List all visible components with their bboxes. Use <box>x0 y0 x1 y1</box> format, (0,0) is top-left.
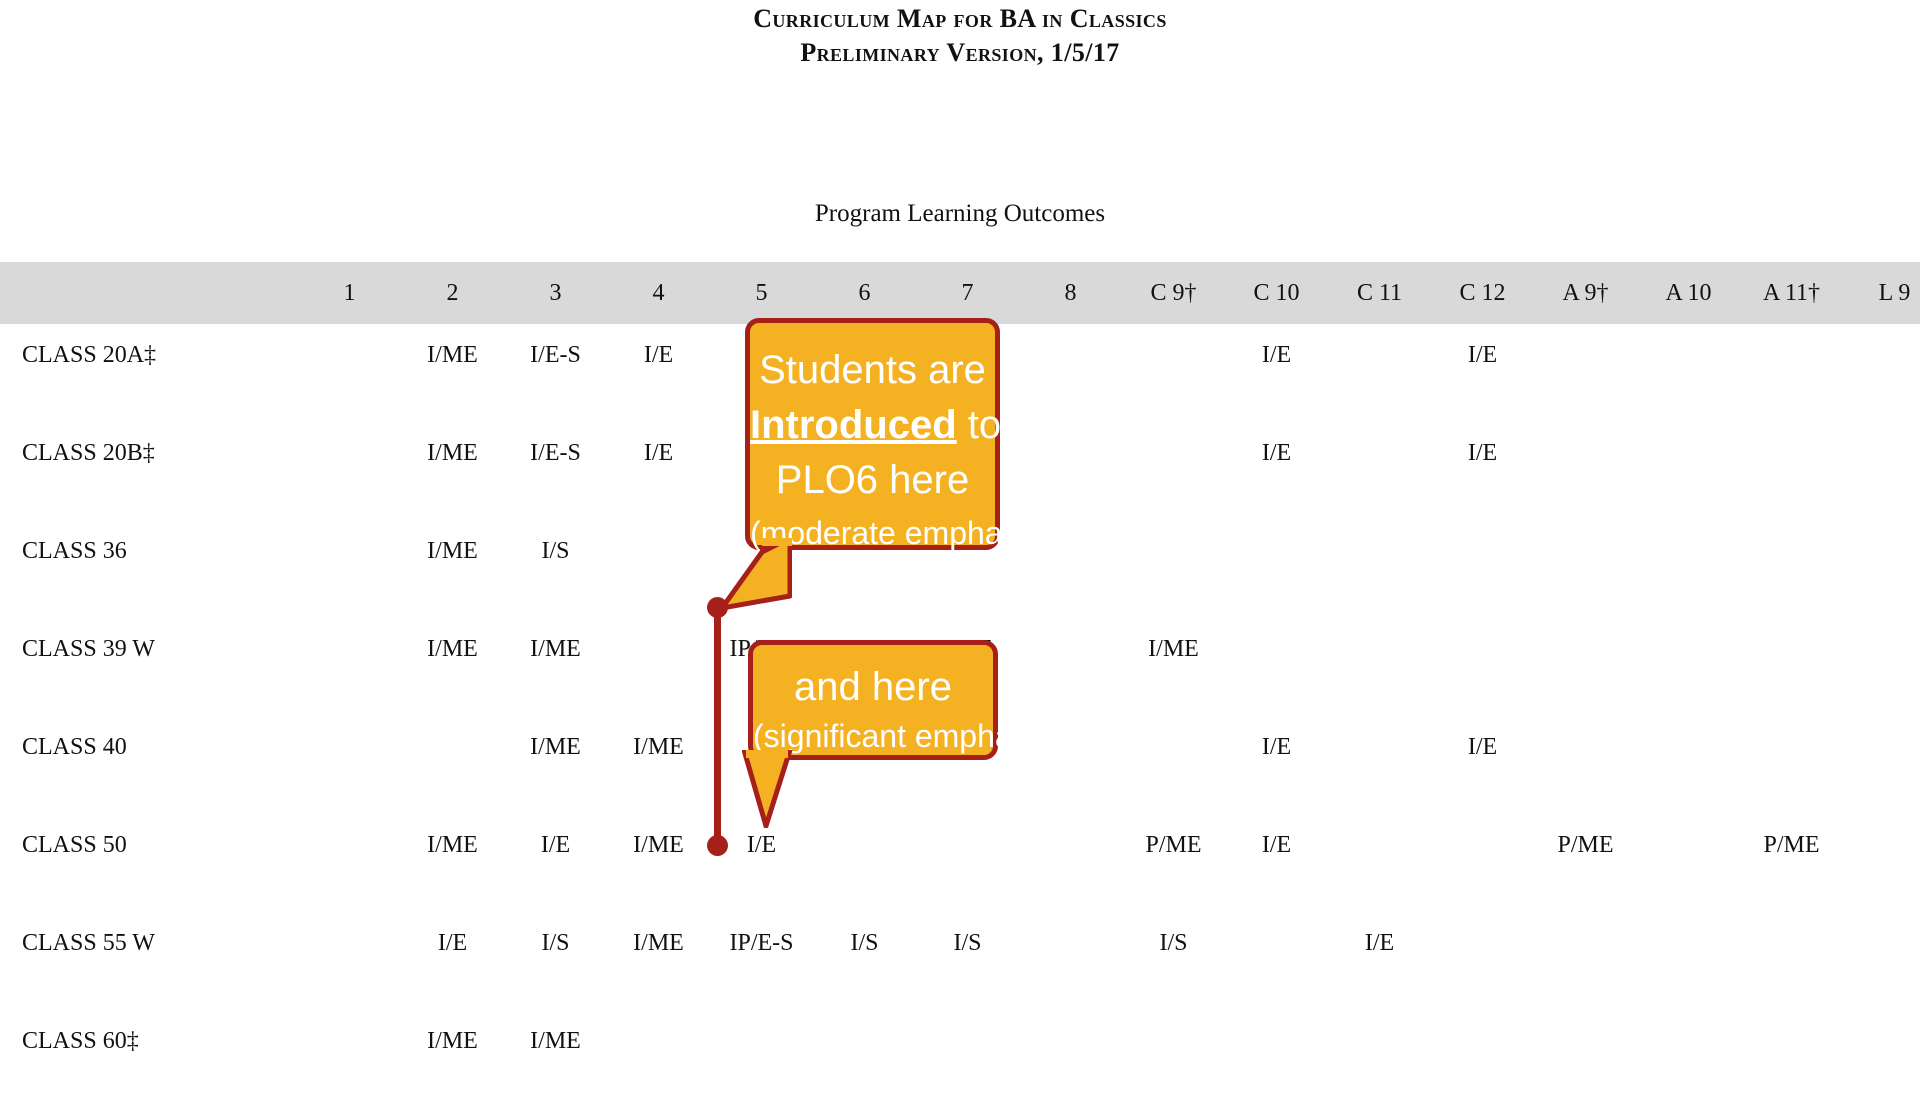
callout-and-here-line-1: and here <box>753 661 993 713</box>
matrix-cell <box>1843 912 1920 1010</box>
callout-introduced-line-2: Introduced to <box>750 398 995 453</box>
matrix-cell <box>298 422 401 520</box>
matrix-cell <box>1740 520 1843 618</box>
matrix-cell <box>1637 912 1740 1010</box>
matrix-cell <box>916 1010 1019 1097</box>
matrix-cell: I/E <box>1225 324 1328 422</box>
matrix-cell <box>298 324 401 422</box>
matrix-cell <box>1328 716 1431 814</box>
matrix-cell <box>1534 716 1637 814</box>
column-header-l-9: L 9 <box>1843 262 1920 324</box>
matrix-cell <box>1637 422 1740 520</box>
matrix-cell <box>1122 716 1225 814</box>
table-row: CLASS 55 WI/EI/SI/MEIP/E-SI/SI/SI/SI/E <box>0 912 1920 1010</box>
matrix-cell <box>1740 324 1843 422</box>
column-header-2: 2 <box>401 262 504 324</box>
matrix-cell: I/E <box>1225 716 1328 814</box>
matrix-cell <box>1431 1010 1534 1097</box>
matrix-cell <box>1740 716 1843 814</box>
matrix-cell <box>1328 324 1431 422</box>
matrix-cell <box>1019 618 1122 716</box>
matrix-cell <box>1637 324 1740 422</box>
matrix-cell <box>1740 618 1843 716</box>
matrix-cell <box>1843 520 1920 618</box>
matrix-cell: I/ME <box>401 1010 504 1097</box>
matrix-cell: I/E <box>710 814 813 912</box>
matrix-cell: I/S <box>504 912 607 1010</box>
matrix-cell <box>298 814 401 912</box>
plo6-marker-dot-bottom <box>707 835 728 856</box>
table-row: CLASS 60‡I/MEI/ME <box>0 1010 1920 1097</box>
matrix-cell <box>1534 520 1637 618</box>
matrix-cell <box>1122 324 1225 422</box>
callout-introduced-line-1: Students are <box>750 343 995 398</box>
row-label: CLASS 55 W <box>0 912 298 1010</box>
table-header: 12345678C 9†C 10C 11C 12A 9†A 10A 11†L 9… <box>0 262 1920 324</box>
subtitle-program-learning-outcomes: Program Learning Outcomes <box>0 200 1920 228</box>
matrix-cell: I/E <box>1328 912 1431 1010</box>
matrix-cell: I/ME <box>504 618 607 716</box>
matrix-cell <box>1534 618 1637 716</box>
column-header-a-11: A 11† <box>1740 262 1843 324</box>
matrix-cell <box>1122 422 1225 520</box>
matrix-cell <box>1328 618 1431 716</box>
matrix-cell: I/E <box>607 422 710 520</box>
matrix-cell <box>710 1010 813 1097</box>
matrix-cell <box>607 520 710 618</box>
column-header-a-9: A 9† <box>1534 262 1637 324</box>
matrix-cell <box>1843 618 1920 716</box>
column-header-c-9: C 9† <box>1122 262 1225 324</box>
column-header-3: 3 <box>504 262 607 324</box>
matrix-cell <box>1637 520 1740 618</box>
matrix-cell <box>1740 912 1843 1010</box>
matrix-cell: I/E <box>1225 814 1328 912</box>
plo6-connector-line <box>714 604 721 851</box>
row-label: CLASS 50 <box>0 814 298 912</box>
matrix-cell: I/S <box>1122 912 1225 1010</box>
matrix-cell: I/ME <box>401 814 504 912</box>
row-label: CLASS 39 W <box>0 618 298 716</box>
matrix-cell: I/S <box>916 912 1019 1010</box>
title-line-1: Curriculum Map for BA in Classics <box>0 2 1920 36</box>
callout-introduced-emphasis: Introduced <box>750 403 957 447</box>
row-label-header <box>0 262 298 324</box>
matrix-cell <box>1740 1010 1843 1097</box>
matrix-cell: I/S <box>504 520 607 618</box>
matrix-cell: I/E-S <box>504 324 607 422</box>
matrix-cell <box>1328 1010 1431 1097</box>
matrix-cell <box>1637 814 1740 912</box>
matrix-cell <box>1225 1010 1328 1097</box>
matrix-cell: I/ME <box>504 1010 607 1097</box>
matrix-cell <box>1431 814 1534 912</box>
matrix-cell <box>1019 912 1122 1010</box>
matrix-cell <box>1019 422 1122 520</box>
column-header-8: 8 <box>1019 262 1122 324</box>
curriculum-map-page: Curriculum Map for BA in Classics Prelim… <box>0 0 1920 994</box>
matrix-cell: I/E <box>1431 324 1534 422</box>
matrix-cell <box>813 1010 916 1097</box>
matrix-cell <box>1019 324 1122 422</box>
matrix-cell: I/ME <box>401 618 504 716</box>
matrix-cell: P/ME <box>1534 814 1637 912</box>
column-header-4: 4 <box>607 262 710 324</box>
matrix-cell: I/ME <box>1122 618 1225 716</box>
matrix-cell <box>916 814 1019 912</box>
matrix-cell <box>1019 814 1122 912</box>
matrix-cell: I/ME <box>401 324 504 422</box>
callout-introduced-line-3: PLO6 here <box>750 453 995 508</box>
table-header-row: 12345678C 9†C 10C 11C 12A 9†A 10A 11†L 9… <box>0 262 1920 324</box>
row-label: CLASS 60‡ <box>0 1010 298 1097</box>
matrix-cell <box>298 912 401 1010</box>
column-header-c-10: C 10 <box>1225 262 1328 324</box>
matrix-cell <box>1225 520 1328 618</box>
row-label: CLASS 20A‡ <box>0 324 298 422</box>
matrix-cell <box>813 814 916 912</box>
matrix-cell <box>1431 912 1534 1010</box>
matrix-cell <box>1843 422 1920 520</box>
matrix-cell: I/ME <box>607 716 710 814</box>
matrix-cell <box>1843 1010 1920 1097</box>
callout-introduced-tail <box>722 538 792 610</box>
matrix-cell <box>1637 618 1740 716</box>
matrix-cell <box>298 1010 401 1097</box>
matrix-cell <box>1843 814 1920 912</box>
matrix-cell: IP/E-S <box>710 912 813 1010</box>
matrix-cell <box>1019 1010 1122 1097</box>
matrix-cell <box>1431 520 1534 618</box>
callout-and-here: and here (significant emphasis) <box>748 640 998 760</box>
column-header-7: 7 <box>916 262 1019 324</box>
matrix-cell <box>1534 912 1637 1010</box>
column-header-1: 1 <box>298 262 401 324</box>
title-line-2: Preliminary Version, 1/5/17 <box>0 36 1920 70</box>
matrix-cell <box>1431 618 1534 716</box>
matrix-cell <box>298 716 401 814</box>
matrix-cell <box>1122 1010 1225 1097</box>
callout-introduced-line-2-rest: to <box>957 403 1001 447</box>
matrix-cell <box>1843 716 1920 814</box>
matrix-cell: I/S <box>813 912 916 1010</box>
matrix-cell: I/E <box>1225 422 1328 520</box>
column-header-5: 5 <box>710 262 813 324</box>
matrix-cell: I/ME <box>607 912 710 1010</box>
matrix-cell <box>1637 716 1740 814</box>
matrix-cell: I/E <box>1431 716 1534 814</box>
callout-here-tail <box>742 750 802 828</box>
matrix-cell <box>298 520 401 618</box>
matrix-cell <box>1328 520 1431 618</box>
matrix-cell <box>401 716 504 814</box>
matrix-cell <box>1534 422 1637 520</box>
row-label: CLASS 36 <box>0 520 298 618</box>
row-label: CLASS 20B‡ <box>0 422 298 520</box>
matrix-cell <box>1225 618 1328 716</box>
matrix-cell: I/ME <box>504 716 607 814</box>
matrix-cell: I/ME <box>607 814 710 912</box>
row-label: CLASS 40 <box>0 716 298 814</box>
matrix-cell: I/E <box>401 912 504 1010</box>
callout-introduced: Students are Introduced to PLO6 here (mo… <box>745 318 1000 550</box>
matrix-cell <box>1534 324 1637 422</box>
matrix-cell <box>607 1010 710 1097</box>
matrix-cell <box>1225 912 1328 1010</box>
matrix-cell: P/ME <box>1122 814 1225 912</box>
column-header-a-10: A 10 <box>1637 262 1740 324</box>
matrix-cell: I/E <box>607 324 710 422</box>
matrix-cell <box>1122 520 1225 618</box>
matrix-cell <box>1843 324 1920 422</box>
column-header-6: 6 <box>813 262 916 324</box>
matrix-cell <box>607 618 710 716</box>
matrix-cell <box>1740 422 1843 520</box>
matrix-cell <box>1534 1010 1637 1097</box>
matrix-cell <box>1328 814 1431 912</box>
matrix-cell: I/ME <box>401 422 504 520</box>
matrix-cell: I/E-S <box>504 422 607 520</box>
matrix-cell <box>298 618 401 716</box>
matrix-cell <box>1328 422 1431 520</box>
column-header-c-11: C 11 <box>1328 262 1431 324</box>
page-title: Curriculum Map for BA in Classics Prelim… <box>0 2 1920 70</box>
matrix-cell <box>1637 1010 1740 1097</box>
column-header-c-12: C 12 <box>1431 262 1534 324</box>
matrix-cell: I/E <box>504 814 607 912</box>
matrix-cell: I/ME <box>401 520 504 618</box>
table-row: CLASS 50I/MEI/EI/MEI/EP/MEI/EP/MEP/ME <box>0 814 1920 912</box>
matrix-cell: I/E <box>1431 422 1534 520</box>
matrix-cell: P/ME <box>1740 814 1843 912</box>
